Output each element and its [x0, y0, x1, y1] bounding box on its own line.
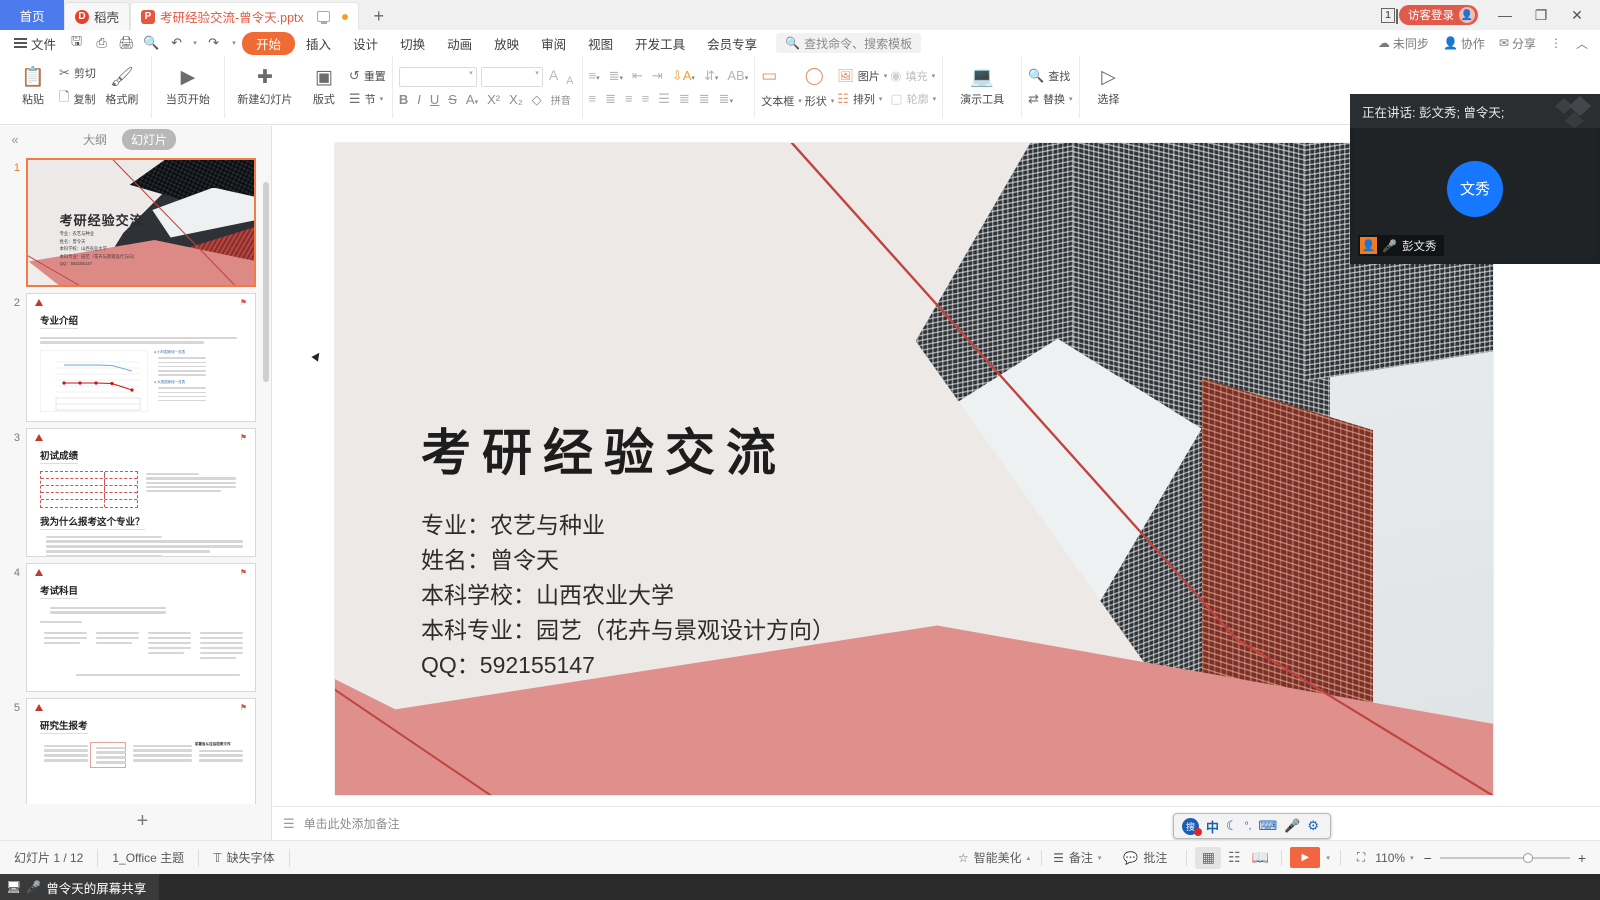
tab-outline[interactable]: 大纲	[74, 129, 116, 150]
slide-thumbnail-2[interactable]: ⚑ 专业介绍	[26, 293, 256, 422]
find-label: 查找	[1048, 68, 1070, 84]
copy-button[interactable]: 🗋 复制	[59, 88, 96, 110]
slide-number: 1	[0, 158, 26, 174]
replace-label: 替换	[1043, 91, 1065, 107]
slide-number: 2	[0, 293, 26, 309]
menu-bar: 文件 🖫 ⎙ 🖨 🔍 ↶ ▾ ↷ ▾ 开始 插入 设计 切换 动画 放映 审阅 …	[0, 30, 1600, 56]
beautify-label: 智能美化	[974, 849, 1022, 866]
textbox-icon: ▭	[761, 66, 777, 86]
chevron-down-icon: ▾	[380, 95, 384, 103]
unsaved-dot-icon	[342, 14, 348, 20]
numbered-list-button[interactable]: ≣▾	[609, 68, 623, 84]
distribute-button[interactable]: ☰	[658, 91, 670, 107]
paste-button[interactable]: 📋 粘贴	[10, 58, 56, 116]
ribbon-group-present: ▶ 当页开始	[152, 56, 225, 118]
shapes-button[interactable]: 形状 ▾	[805, 93, 835, 109]
collaborate-label: 协作	[1461, 35, 1485, 52]
thumbnail-art: ⚑ 初试成绩	[27, 429, 255, 556]
format-painter-icon: 🖌	[110, 68, 134, 88]
format-painter-label: 格式刷	[105, 91, 138, 107]
tab-docer[interactable]: D 稻壳	[64, 2, 130, 30]
participant-name: 彭文秀	[1402, 238, 1437, 254]
collapse-panel-button[interactable]: «	[0, 132, 30, 147]
select-arrow-icon: ▷	[1101, 68, 1116, 88]
font-color-icon: A	[466, 92, 475, 107]
pin-icon: ⚑	[240, 703, 247, 712]
start-current-slide-label: 当页开始	[166, 91, 210, 107]
sogou-logo-icon[interactable]: 搜	[1182, 818, 1199, 835]
thumbnail-chart	[40, 350, 148, 412]
panel-tabs: 大纲 幻灯片	[74, 129, 176, 150]
new-slide-icon: ✚	[257, 68, 273, 88]
present-tools-label: 演示工具	[960, 91, 1004, 107]
pin-icon: ⚑	[240, 568, 247, 577]
thumbnail-row[interactable]: 3 ⚑ 初试成绩	[0, 422, 271, 557]
customize-quick-access-icon[interactable]: ▾	[226, 32, 242, 54]
shapes-label: 形状	[805, 93, 827, 109]
ribbon-group-select: ▷ 选择	[1080, 56, 1138, 118]
align-center-button[interactable]: ≣	[605, 91, 616, 107]
docer-icon: D	[75, 10, 89, 24]
print-preview-icon[interactable]: ⎙	[89, 32, 114, 54]
thumbnail-title: 研究生报考	[40, 718, 88, 734]
collaborate-icon: 👤	[1443, 36, 1458, 50]
status-right-controls: ☆ 智能美化 ▴ ☰ 备注 ▾ 💬 批注 ▦ ☷ 📖 ▶ ▾ ⛶	[947, 847, 1600, 869]
picture-button[interactable]: 🖼 图片 ▾	[837, 68, 887, 84]
add-slide-button[interactable]: +	[26, 806, 259, 836]
taskbar: 🖥 🎤 曾令天的屏幕共享	[0, 874, 1600, 900]
replace-icon: ⇄	[1028, 91, 1039, 107]
bold-button[interactable]: B	[399, 92, 408, 107]
smart-beautify-button[interactable]: ☆ 智能美化 ▴	[947, 849, 1041, 866]
paste-label: 粘贴	[22, 91, 44, 107]
reset-label: 重置	[364, 68, 386, 84]
save-icon[interactable]: 🖫	[64, 32, 89, 54]
section-button[interactable]: ☰ 节 ▾	[349, 91, 386, 107]
file-menu-button[interactable]: 文件	[6, 34, 64, 53]
microphone-icon: 🎤	[1382, 239, 1397, 253]
subscript-button[interactable]: X₂	[509, 92, 523, 107]
search-icon: 🔍	[1028, 68, 1044, 84]
ribbon-tab-member[interactable]: 会员专享	[696, 32, 768, 55]
fill-label: 填充	[906, 68, 928, 84]
pin-icon: ⚑	[240, 298, 247, 307]
start-slideshow-button[interactable]: ▶	[1290, 847, 1320, 868]
thumbnail-row[interactable]: 5 ⚑ 研究生报考 某署省从往后招录文件	[0, 692, 271, 804]
ribbon-group-slides: ✚ 新建幻灯片 ▣ 版式 ↺ 重置 ☰ 节 ▾	[225, 56, 393, 118]
notes-pane[interactable]: ☰ 单击此处添加备注	[273, 806, 1600, 840]
slides-panel-header: « 大纲 幻灯片	[0, 126, 271, 152]
paragraph-row-1: ≡▾ ≣▾ ⇤ ⇥ ⇩A▾ ⇵▾ AB▾	[589, 68, 749, 84]
thumbnail-art: ⚑ 研究生报考 某署省从往后招录文件	[27, 699, 255, 804]
notes-toggle-label: 备注	[1069, 849, 1093, 866]
reset-icon: ↺	[349, 68, 360, 84]
strikethrough-button[interactable]: S	[448, 92, 457, 107]
section-label: 节	[365, 91, 376, 107]
find-button[interactable]: 🔍 查找	[1028, 68, 1072, 84]
ribbon-tab-design[interactable]: 设计	[342, 32, 389, 55]
line-spacing-button[interactable]: ⇵▾	[704, 68, 718, 84]
grow-font-button[interactable]: A	[547, 67, 560, 87]
new-slide-label: 新建幻灯片	[237, 91, 292, 107]
reading-view-icon[interactable]: 📖	[1247, 847, 1273, 869]
cut-button[interactable]: ✂ 剪切	[59, 65, 96, 81]
cloud-sync-label: 未同步	[1393, 35, 1429, 52]
status-bar: 幻灯片 1 / 12 1_Office 主题 𝕋 缺失字体 ☆ 智能美化 ▴ ☰…	[0, 840, 1600, 874]
settings-gear-icon[interactable]: ⚙	[1307, 818, 1319, 834]
clear-format-button[interactable]: ◇	[532, 92, 542, 108]
ime-mode-chinese[interactable]: 中	[1206, 817, 1219, 836]
normal-view-icon[interactable]: ▦	[1195, 847, 1221, 869]
pinyin-guide-button[interactable]: 拼音	[551, 92, 571, 107]
paragraph-controls: ≡▾ ≣▾ ⇤ ⇥ ⇩A▾ ⇵▾ AB▾ ≡ ≣ ≡ ≡ ☰ ≣ ≣ ≣▾	[589, 58, 749, 116]
reset-button[interactable]: ↺ 重置	[349, 68, 386, 84]
column-button[interactable]: ≣	[679, 91, 690, 107]
ribbon-group-paragraph: ≡▾ ≣▾ ⇤ ⇥ ⇩A▾ ⇵▾ AB▾ ≡ ≣ ≡ ≡ ☰ ≣ ≣ ≣▾	[583, 56, 756, 118]
section-icon: ☰	[349, 91, 361, 107]
paste-icon: 📋	[21, 68, 45, 88]
zoom-out-button[interactable]: −	[1424, 850, 1432, 866]
ribbon-tab-review[interactable]: 审阅	[530, 32, 577, 55]
ribbon-group-font: A A B I U S A▾ X² X₂ ◇ 拼音	[393, 56, 583, 118]
undo-dropdown-icon[interactable]: ▾	[189, 32, 201, 54]
file-menu-label: 文件	[31, 34, 56, 53]
font-controls: A A B I U S A▾ X² X₂ ◇ 拼音	[399, 58, 576, 116]
thumbnail-title: 考试科目	[40, 583, 78, 599]
print-icon[interactable]: 🖨	[114, 32, 139, 54]
video-tile[interactable]: 文秀 👤 🎤 彭文秀	[1354, 128, 1596, 260]
avatar: 👤	[1459, 7, 1475, 23]
participant-name-bar: 👤 🎤 彭文秀	[1358, 235, 1444, 256]
mouse-cursor	[311, 350, 322, 361]
thumbnail-art: ⚑ 考试科目	[27, 564, 255, 691]
insert-column-3: 🖼 图片 ▾ ☷ 排列 ▾	[837, 58, 887, 116]
monitor-icon[interactable]	[317, 11, 330, 22]
screen-share-label: 曾令天的屏幕共享	[46, 878, 146, 897]
font-selectors: A A	[399, 67, 576, 87]
thumbnail-row[interactable]: 4 ⚑ 考试科目	[0, 557, 271, 692]
microphone-icon[interactable]: 🎤	[1284, 818, 1300, 834]
thumbnail-title: 初试成绩	[40, 448, 78, 464]
ribbon-tab-animation[interactable]: 动画	[436, 32, 483, 55]
collapse-ribbon-icon[interactable]: ︿	[1576, 35, 1588, 52]
panel-scrollbar[interactable]	[263, 182, 269, 760]
screen-share-indicator[interactable]: 🖥 🎤 曾令天的屏幕共享	[0, 874, 159, 900]
thumbnail-art: ⚑ 专业介绍	[27, 294, 255, 421]
ribbon-tab-developer[interactable]: 开发工具	[624, 32, 696, 55]
cut-label: 剪切	[74, 65, 96, 81]
ribbon-group-clipboard: 📋 粘贴 ✂ 剪切 🗋 复制 🖌 格式刷	[4, 56, 152, 118]
collaborate-button[interactable]: 👤 协作	[1443, 35, 1485, 52]
play-circle-icon: ▶	[181, 68, 196, 88]
present-tools-button[interactable]: 💻 演示工具	[949, 58, 1015, 116]
font-warning-icon: 𝕋	[213, 851, 222, 865]
outline-button[interactable]: ▢ 轮廓 ▾	[890, 91, 936, 107]
search-doc-icon[interactable]: 🔍	[139, 32, 164, 54]
slide-line-undergrad-major: 本科专业：园艺（花卉与景观设计方向）	[421, 613, 835, 648]
redo-icon[interactable]: ↷	[201, 32, 226, 54]
cloud-sync-icon: ☁	[1378, 36, 1390, 50]
comment-label: 批注	[1143, 849, 1167, 866]
picture-label: 图片	[858, 68, 880, 84]
share-label: 分享	[1512, 35, 1536, 52]
search-icon: 🔍	[785, 36, 800, 50]
insert-column-2: ◯ 形状 ▾	[805, 58, 835, 116]
replace-button[interactable]: ⇄ 替换 ▾	[1028, 91, 1072, 107]
microphone-icon: 🎤	[26, 880, 41, 894]
page-count-badge[interactable]: 1	[1381, 8, 1395, 23]
tab-home-label: 首页	[19, 6, 44, 25]
person-icon: 👤	[1360, 237, 1377, 254]
fill-button[interactable]: ◉ 填充 ▾	[890, 68, 936, 84]
layout-button[interactable]: ▣ 版式	[302, 58, 346, 116]
slide-number: 4	[0, 563, 26, 579]
shapes-icon: ◯	[805, 66, 824, 86]
wps-presentation-window: 首页 D 稻壳 P 考研经验交流-曾令天.pptx + 1 访客登录 👤 — ❐…	[0, 0, 1600, 900]
slide-thumbnail-4[interactable]: ⚑ 考试科目	[26, 563, 256, 692]
moon-icon[interactable]: ☾	[1226, 818, 1238, 834]
arrange-button[interactable]: ☷ 排列 ▾	[837, 91, 887, 107]
font-size-select[interactable]	[481, 67, 543, 87]
select-label: 选择	[1098, 91, 1120, 107]
meeting-video-window[interactable]: 正在讲话: 彭文秀; 曾令天; 文秀 👤 🎤 彭文秀	[1350, 94, 1600, 264]
bullet-list-button[interactable]: ≡▾	[589, 68, 600, 83]
beautify-icon: ☆	[958, 851, 969, 865]
thumbnail-row[interactable]: 1 考研经验交流	[0, 152, 271, 287]
text-direction-button[interactable]: AB▾	[727, 68, 748, 83]
textbox-label: 文本框	[761, 93, 794, 109]
thumbnail-title: 考研经验交流	[60, 210, 144, 229]
tab-bar: 首页 D 稻壳 P 考研经验交流-曾令天.pptx + 1 访客登录 👤 — ❐…	[0, 0, 1600, 30]
undo-icon[interactable]: ↶	[164, 32, 189, 54]
more-options-icon[interactable]: ⋮	[1550, 36, 1562, 50]
underline-button[interactable]: U	[430, 92, 439, 107]
thumbnail-subtitle: 我为什么报考这个专业？	[40, 514, 145, 530]
slide-sorter-icon[interactable]: ☷	[1221, 847, 1247, 869]
tab-slides[interactable]: 幻灯片	[122, 129, 176, 150]
participant-avatar: 文秀	[1447, 161, 1503, 217]
monitor-icon: 🖥	[6, 880, 21, 894]
notes-toggle-button[interactable]: ☰ 备注 ▾	[1042, 849, 1112, 866]
ribbon-tab-transition[interactable]: 切换	[389, 32, 436, 55]
keyboard-icon[interactable]: ⌨	[1258, 818, 1277, 834]
ribbon-group-editing: 🔍 查找 ⇄ 替换 ▾	[1022, 56, 1079, 118]
line-height-button[interactable]: ≣▾	[719, 91, 733, 107]
tab-document[interactable]: P 考研经验交流-曾令天.pptx	[130, 2, 359, 30]
theme-name[interactable]: 1_Office 主题	[98, 849, 199, 867]
missing-font-button[interactable]: 𝕋 缺失字体	[199, 849, 290, 867]
copy-icon: 🗋	[59, 88, 69, 110]
restore-button[interactable]: ❐	[1524, 1, 1558, 29]
comment-icon: 💬	[1123, 851, 1138, 865]
insert-column-4: ◉ 填充 ▾ ▢ 轮廓 ▾	[890, 58, 936, 116]
search-placeholder: 查找命令、搜索模板	[804, 35, 912, 52]
window-controls: 1 访客登录 👤 — ❐ ✕	[1381, 0, 1600, 30]
decrease-indent-button[interactable]: ⇤	[632, 68, 643, 84]
slides-small-buttons: ↺ 重置 ☰ 节 ▾	[349, 58, 386, 116]
slide-line-school: 本科学校：山西农业大学	[421, 578, 835, 613]
slide-body-text[interactable]: 专业：农艺与种业 姓名：曾令天 本科学校：山西农业大学 本科专业：园艺（花卉与景…	[421, 508, 835, 683]
hamburger-icon	[14, 35, 27, 50]
missing-font-label: 缺失字体	[227, 849, 275, 866]
justify-button[interactable]: ≡	[642, 91, 650, 106]
textbox-icon-big[interactable]: ▭	[761, 66, 802, 86]
select-button[interactable]: ▷ 选择	[1086, 58, 1132, 116]
shrink-font-button[interactable]: A	[564, 75, 575, 87]
shapes-icon-big[interactable]: ◯	[805, 66, 835, 86]
command-search-box[interactable]: 🔍 查找命令、搜索模板	[776, 33, 921, 53]
layout-label: 版式	[313, 91, 335, 107]
paragraph-row-2: ≡ ≣ ≡ ≡ ☰ ≣ ≣ ≣▾	[589, 91, 749, 107]
ribbon-tab-view[interactable]: 视图	[577, 32, 624, 55]
fill-icon: ◉	[890, 68, 901, 84]
increase-indent-button[interactable]: ⇥	[652, 68, 663, 84]
thumbnail-row[interactable]: 2 ⚑ 专业介绍	[0, 287, 271, 422]
slide-thumbnail-3[interactable]: ⚑ 初试成绩	[26, 428, 256, 557]
arrange-label: 排列	[853, 91, 875, 107]
pin-icon: ⚑	[240, 433, 247, 442]
ime-toolbar[interactable]: 搜 中 ☾ °, ⌨ 🎤 ⚙	[1173, 813, 1331, 839]
slide-line-qq: QQ：592155147	[421, 648, 835, 683]
slide-thumbnail-5[interactable]: ⚑ 研究生报考 某署省从往后招录文件	[26, 698, 256, 804]
cloud-sync-button[interactable]: ☁ 未同步	[1378, 35, 1429, 52]
notes-icon: ☰	[1053, 851, 1064, 865]
slide-number: 5	[0, 698, 26, 714]
layout-icon: ▣	[315, 68, 333, 88]
scissors-icon: ✂	[59, 65, 70, 81]
slide-thumbnail-1[interactable]: 考研经验交流 专业：农艺与种业 姓名：曾令天 本科学校：山西农业大学 本科专业：…	[26, 158, 256, 287]
font-name-select[interactable]	[399, 67, 477, 87]
font-color-button[interactable]: A▾	[466, 92, 478, 107]
align-left-button[interactable]: ≡	[589, 91, 597, 106]
picture-icon: 🖼	[837, 68, 854, 84]
punctuation-icon[interactable]: °,	[1245, 821, 1252, 832]
slide-line-major: 专业：农艺与种业	[421, 508, 835, 543]
slide-line-name: 姓名：曾令天	[421, 543, 835, 578]
ribbon-group-insert: ▭ 文本框 ▾ ◯ 形状 ▾ 🖼 图片	[755, 56, 943, 118]
italic-button[interactable]: I	[417, 92, 421, 107]
thumbnail-title: 专业介绍	[40, 313, 78, 329]
new-slide-button[interactable]: ✚ 新建幻灯片	[231, 58, 299, 116]
format-painter-button[interactable]: 🖌 格式刷	[99, 58, 145, 116]
current-slide[interactable]: 考研经验交流 专业：农艺与种业 姓名：曾令天 本科学校：山西农业大学 本科专业：…	[335, 143, 1493, 795]
outline-label: 轮廓	[907, 91, 929, 107]
tab-document-label: 考研经验交流-曾令天.pptx	[160, 7, 304, 26]
ribbon-tab-slideshow[interactable]: 放映	[483, 32, 530, 55]
comment-button[interactable]: 💬 批注	[1112, 849, 1178, 866]
sort-button[interactable]: ⇩A▾	[672, 68, 695, 84]
share-icon: ✉	[1499, 36, 1509, 50]
slide-counter[interactable]: 幻灯片 1 / 12	[0, 849, 98, 867]
slide-title[interactable]: 考研经验交流	[421, 413, 787, 485]
ribbon-tab-start[interactable]: 开始	[242, 32, 295, 55]
font-format-buttons: B I U S A▾ X² X₂ ◇ 拼音	[399, 92, 576, 108]
thumbnail-list[interactable]: 1 考研经验交流	[0, 152, 271, 804]
clipboard-small-buttons: ✂ 剪切 🗋 复制	[59, 58, 96, 116]
ppt-file-icon: P	[141, 10, 155, 24]
tab-home[interactable]: 首页	[0, 0, 64, 30]
share-button[interactable]: ✉ 分享	[1499, 35, 1536, 52]
superscript-button[interactable]: X²	[487, 92, 500, 107]
zoom-slider[interactable]: − +	[1424, 850, 1586, 866]
align-right-button[interactable]: ≡	[625, 91, 633, 106]
diamond-watermark-icon	[1546, 92, 1596, 130]
minimize-button[interactable]: —	[1488, 1, 1522, 29]
triangle-icon	[35, 299, 43, 306]
guest-login-button[interactable]: 访客登录 👤	[1399, 5, 1478, 25]
zoom-level-label[interactable]: 110%▾	[1371, 851, 1417, 865]
thumbnail-art: 考研经验交流 专业：农艺与种业 姓名：曾令天 本科学校：山西农业大学 本科专业：…	[28, 160, 254, 285]
guest-login-label: 访客登录	[1408, 7, 1454, 23]
outline-icon: ▢	[890, 91, 902, 107]
triangle-icon	[35, 704, 43, 711]
new-tab-button[interactable]: +	[359, 2, 399, 30]
notes-icon: ☰	[283, 816, 295, 832]
thumbnail-subtitle: 专业：农艺与种业 姓名：曾令天 本科学校：山西农业大学 本科专业：园艺（花卉与景…	[60, 230, 137, 268]
copy-label: 复制	[73, 91, 95, 107]
textbox-button[interactable]: 文本框 ▾	[761, 93, 802, 109]
triangle-icon	[35, 569, 43, 576]
insert-column-1: ▭ 文本框 ▾	[761, 58, 802, 116]
ribbon-tab-insert[interactable]: 插入	[295, 32, 342, 55]
editing-buttons: 🔍 查找 ⇄ 替换 ▾	[1028, 58, 1072, 116]
ribbon-group-tools: 💻 演示工具	[943, 56, 1022, 118]
zoom-in-button[interactable]: +	[1578, 850, 1586, 866]
triangle-icon	[35, 434, 43, 441]
projector-icon: 💻	[970, 68, 994, 88]
slides-panel: « 大纲 幻灯片 1	[0, 126, 272, 840]
menu-right-actions: ☁ 未同步 👤 协作 ✉ 分享 ⋮ ︿	[1378, 35, 1600, 52]
arrange-icon: ☷	[837, 91, 849, 107]
zoom-knob[interactable]	[1523, 853, 1533, 863]
notes-placeholder: 单击此处添加备注	[304, 815, 400, 832]
close-button[interactable]: ✕	[1560, 1, 1594, 29]
fit-to-window-icon[interactable]: ⛶	[1351, 850, 1371, 865]
slideshow-options-icon[interactable]: ▾	[1326, 854, 1330, 862]
zoom-track[interactable]	[1440, 857, 1570, 859]
slide-number: 3	[0, 428, 26, 444]
paragraph-spacing-button[interactable]: ≣	[699, 91, 710, 107]
tab-docer-label: 稻壳	[94, 7, 119, 26]
start-current-slide-button[interactable]: ▶ 当页开始	[158, 58, 218, 116]
